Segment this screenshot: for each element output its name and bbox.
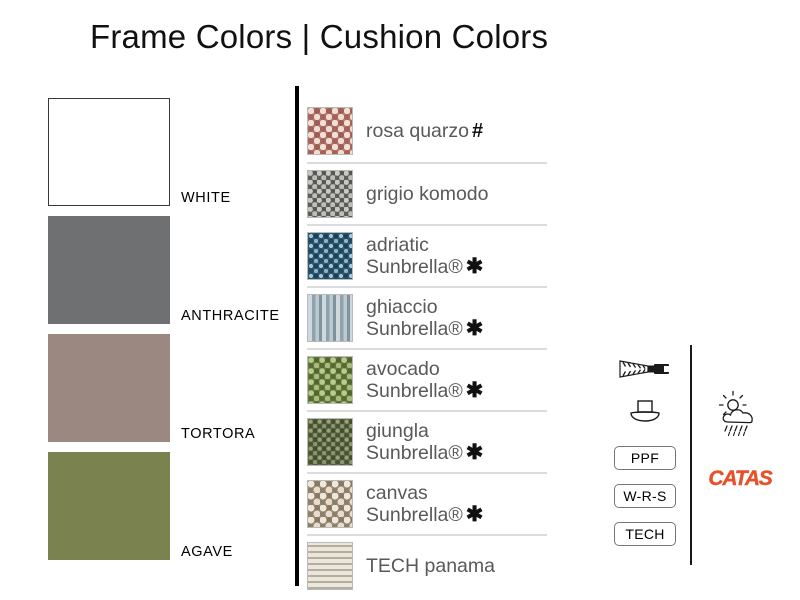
cushion-color-row: giunglaSunbrella®✱ [307, 410, 547, 472]
stain-resistant-drop-icon [608, 390, 682, 432]
cushion-color-name: grigio komodo [366, 183, 488, 205]
cushion-color-name: giungla [366, 420, 429, 442]
certification-divider [690, 345, 692, 565]
frame-swatch-tortora[interactable] [48, 334, 170, 442]
cushion-color-name: TECH panama [366, 555, 495, 577]
cushion-swatch-tech-panama[interactable] [307, 542, 353, 590]
cushion-brand-label: Sunbrella®✱ [366, 318, 483, 340]
asterisk-mark: ✱ [466, 379, 484, 402]
badge-w-r-s[interactable]: W-R-S [614, 484, 676, 508]
cushion-color-text: ghiaccioSunbrella®✱ [366, 297, 483, 340]
certifications-group: CATAS [700, 390, 780, 491]
hash-mark: # [472, 120, 483, 142]
frame-color-label: TORTORA [181, 426, 255, 442]
cushion-color-name: ghiaccio [366, 296, 438, 318]
cushion-color-row: ghiaccioSunbrella®✱ [307, 286, 547, 348]
cushion-swatch-ghiaccio[interactable] [307, 294, 353, 342]
cushion-color-row: grigio komodo [307, 162, 547, 224]
cushion-color-text: adriaticSunbrella®✱ [366, 235, 483, 278]
sun-cloud-rain-icon [711, 390, 769, 445]
badge-tech[interactable]: TECH [614, 522, 676, 546]
brand-text: Sunbrella® [366, 318, 463, 340]
cushion-swatch-canvas[interactable] [307, 480, 353, 528]
cushion-color-text: giunglaSunbrella®✱ [366, 421, 483, 464]
cushion-color-text: canvasSunbrella®✱ [366, 483, 483, 526]
cushion-swatch-giungla[interactable] [307, 418, 353, 466]
cushion-brand-label: Sunbrella®✱ [366, 256, 483, 278]
asterisk-mark: ✱ [466, 503, 484, 526]
cushion-brand-label: Sunbrella®✱ [366, 442, 483, 464]
cushion-brand-label: Sunbrella®✱ [366, 380, 483, 402]
cushion-brand-label: Sunbrella®✱ [366, 504, 483, 526]
cushion-color-row: avocadoSunbrella®✱ [307, 348, 547, 410]
cushion-color-row: rosa quarzo# [307, 100, 547, 162]
frame-color-row: ANTHRACITE [48, 216, 293, 334]
cushion-color-name: adriatic [366, 234, 429, 256]
catas-logo: CATAS [708, 467, 771, 491]
asterisk-mark: ✱ [466, 255, 484, 278]
cushion-colors-list: rosa quarzo#grigio komodoadriaticSunbrel… [307, 100, 547, 596]
frame-swatch-white[interactable] [48, 98, 170, 206]
cushion-color-text: grigio komodo [366, 184, 488, 205]
cushion-color-name: rosa quarzo [366, 120, 469, 142]
cushion-color-text: rosa quarzo# [366, 121, 483, 142]
cushion-color-row: canvasSunbrella®✱ [307, 472, 547, 534]
frame-color-row: WHITE [48, 98, 293, 216]
column-divider [295, 86, 299, 586]
cushion-color-row: adriaticSunbrella®✱ [307, 224, 547, 286]
cushion-swatch-grigio-komodo[interactable] [307, 170, 353, 218]
frame-color-label: WHITE [181, 190, 231, 206]
brand-text: Sunbrella® [366, 380, 463, 402]
asterisk-mark: ✱ [466, 317, 484, 340]
frame-color-label: ANTHRACITE [181, 308, 280, 324]
property-icons-group: PPF W-R-S TECH [608, 348, 682, 546]
frame-colors-list: WHITEANTHRACITETORTORAAGAVE [48, 98, 293, 570]
brand-text: Sunbrella® [366, 504, 463, 526]
brand-text: Sunbrella® [366, 442, 463, 464]
cushion-swatch-adriatic[interactable] [307, 232, 353, 280]
page-title: Frame Colors | Cushion Colors [90, 18, 548, 56]
cushion-swatch-avocado[interactable] [307, 356, 353, 404]
asterisk-mark: ✱ [466, 441, 484, 464]
cushion-color-name: canvas [366, 482, 428, 504]
frame-swatch-agave[interactable] [48, 452, 170, 560]
brand-text: Sunbrella® [366, 256, 463, 278]
color-chart-page: Frame Colors | Cushion Colors WHITEANTHR… [0, 0, 800, 600]
water-repellent-spray-icon [608, 348, 682, 390]
frame-swatch-anthracite[interactable] [48, 216, 170, 324]
cushion-color-text: TECH panama [366, 556, 495, 577]
cushion-color-name: avocado [366, 358, 440, 380]
frame-color-label: AGAVE [181, 544, 233, 560]
frame-color-row: AGAVE [48, 452, 293, 570]
badge-ppf[interactable]: PPF [614, 446, 676, 470]
cushion-color-row: TECH panama [307, 534, 547, 596]
cushion-color-text: avocadoSunbrella®✱ [366, 359, 483, 402]
frame-color-row: TORTORA [48, 334, 293, 452]
cushion-swatch-rosa-quarzo[interactable] [307, 107, 353, 155]
